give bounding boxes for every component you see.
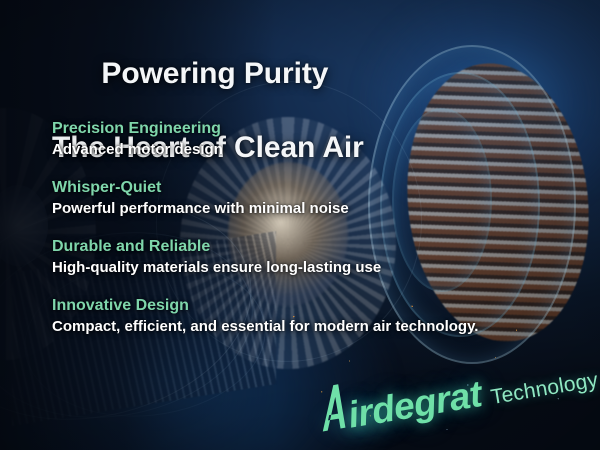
promo-banner: Powering Purity The Heart of Clean Air P… — [0, 0, 600, 450]
headline-line-1: Powering Purity — [101, 57, 328, 90]
feature-list: Precision Engineering Advanced motor des… — [52, 118, 478, 337]
feature-title: Innovative Design — [52, 295, 478, 316]
brand-name: irdegrat — [345, 373, 485, 437]
feature-description: Powerful performance with minimal noise — [52, 198, 478, 219]
feature-title: Whisper-Quiet — [52, 177, 478, 198]
feature-item: Whisper-Quiet Powerful performance with … — [52, 177, 478, 219]
feature-description: Advanced motor design — [52, 139, 478, 160]
feature-item: Durable and Reliable High-quality materi… — [52, 236, 478, 278]
brand-tagline: Technology — [489, 368, 600, 410]
feature-item: Innovative Design Compact, efficient, an… — [52, 295, 478, 337]
feature-description: High-quality materials ensure long-lasti… — [52, 257, 478, 278]
stylized-a-mark-icon — [307, 382, 352, 434]
feature-description: Compact, efficient, and essential for mo… — [52, 316, 478, 337]
banner-content: Powering Purity The Heart of Clean Air P… — [0, 0, 600, 450]
brand-logo: irdegrat Technology — [307, 341, 600, 443]
feature-item: Precision Engineering Advanced motor des… — [52, 118, 478, 160]
feature-title: Precision Engineering — [52, 118, 478, 139]
feature-title: Durable and Reliable — [52, 236, 478, 257]
